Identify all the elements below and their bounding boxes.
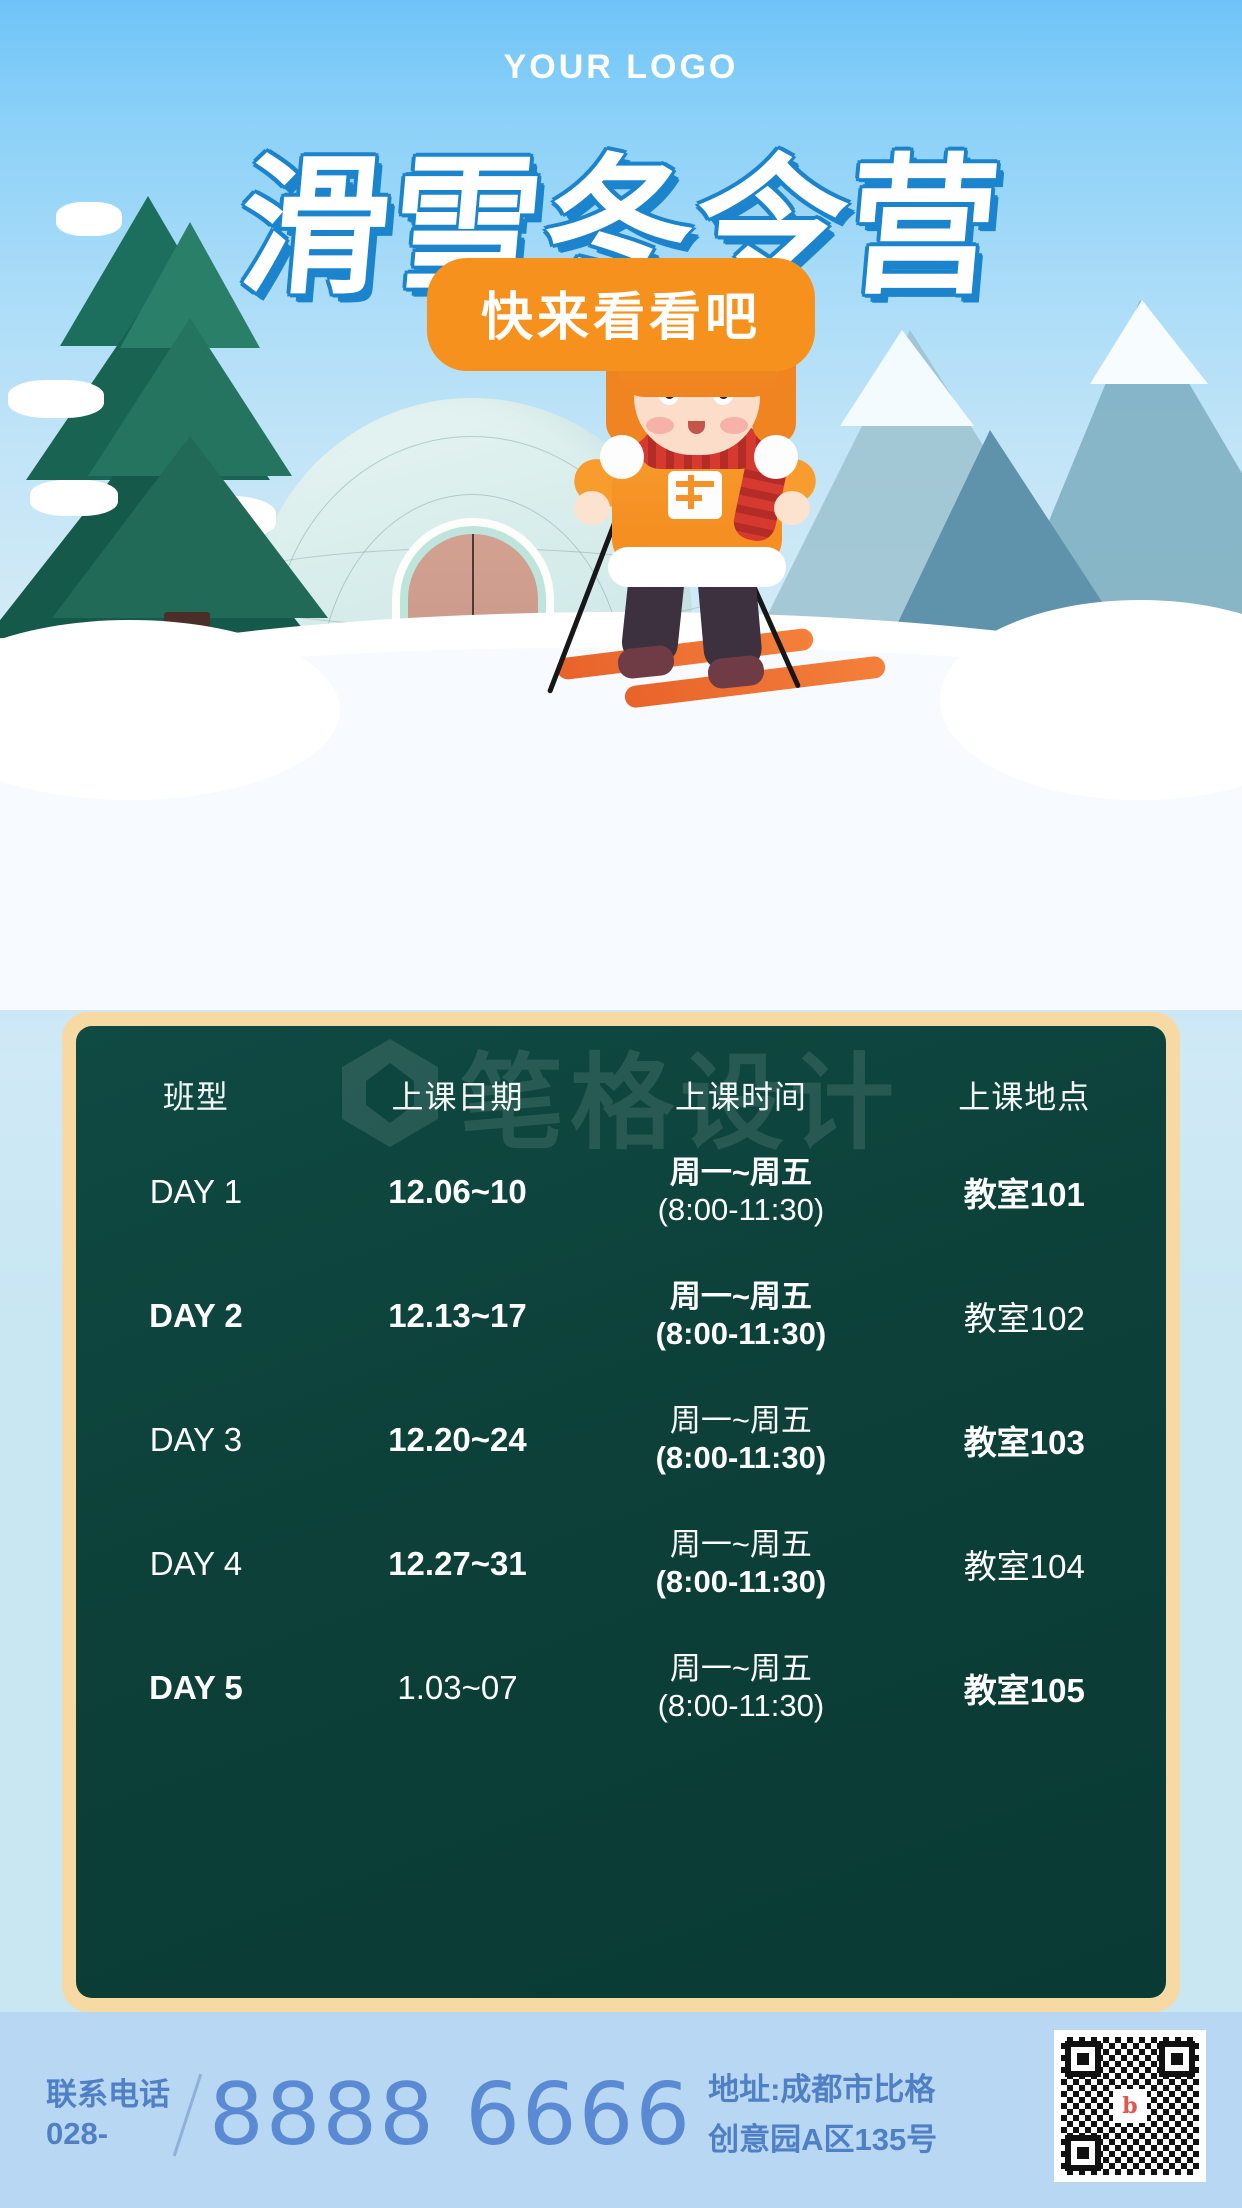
skier-pompom-left xyxy=(600,435,644,479)
cell-time: 周一~周五 (8:00-11:30) xyxy=(599,1254,882,1378)
cell-time: 周一~周五 (8:00-11:30) xyxy=(599,1626,882,1750)
cell-time-days: 周一~周五 xyxy=(599,1527,882,1564)
cell-time-days: 周一~周五 xyxy=(599,1155,882,1192)
cell-day: DAY 5 xyxy=(76,1626,316,1750)
column-header-location: 上课地点 xyxy=(883,1026,1166,1130)
cell-time: 周一~周五 (8:00-11:30) xyxy=(599,1378,882,1502)
cell-time-days: 周一~周五 xyxy=(599,1279,882,1316)
divider-slash xyxy=(173,2074,202,2157)
tree2-snow-1 xyxy=(30,480,118,516)
skier-mouth xyxy=(688,421,705,434)
cell-day: DAY 2 xyxy=(76,1254,316,1378)
skier-boot-left xyxy=(617,644,676,680)
cell-time-hours: (8:00-11:30) xyxy=(599,1192,882,1229)
address-line-1: 地址:成都市比格 xyxy=(708,2065,937,2115)
skier-pompom-right xyxy=(754,435,798,479)
cell-time-days: 周一~周五 xyxy=(599,1651,882,1688)
cell-room: 教室103 xyxy=(883,1378,1166,1502)
table-row: DAY 5 1.03~07 周一~周五 (8:00-11:30) 教室105 xyxy=(76,1626,1166,1750)
qr-code-pattern: b xyxy=(1061,2037,1199,2175)
skier-jacket-hem xyxy=(608,547,786,587)
schedule-table: 班型 上课日期 上课时间 上课地点 DAY 1 12.06~10 周一~周五 (… xyxy=(76,1026,1166,1750)
cell-day: DAY 1 xyxy=(76,1130,316,1254)
qr-finder-top-left xyxy=(1065,2041,1101,2077)
column-header-class-type: 班型 xyxy=(76,1026,316,1130)
poster-root: YOUR LOGO 滑雪冬令营 快来看看吧 笔格设计 班型 上课日期 上课时间 … xyxy=(0,0,1242,2208)
cell-date: 12.06~10 xyxy=(316,1130,599,1254)
phone-number[interactable]: 8888 6666 xyxy=(209,2065,692,2165)
cell-date: 1.03~07 xyxy=(316,1626,599,1750)
cell-time-hours: (8:00-11:30) xyxy=(599,1564,882,1601)
cell-date: 12.27~31 xyxy=(316,1502,599,1626)
qr-finder-top-right xyxy=(1159,2041,1195,2077)
cell-day: DAY 4 xyxy=(76,1502,316,1626)
cell-room: 教室104 xyxy=(883,1502,1166,1626)
skier-chest-badge xyxy=(668,471,722,519)
qr-code[interactable]: b xyxy=(1054,2030,1206,2182)
pine2-layer-3 xyxy=(52,436,328,618)
column-header-date: 上课日期 xyxy=(316,1026,599,1130)
skier-mitten-left xyxy=(574,491,610,525)
address-block: 地址:成都市比格 创意园A区135号 xyxy=(708,2065,937,2164)
brand-logo-text: YOUR LOGO xyxy=(0,48,1242,87)
skier-mitten-right xyxy=(774,491,810,525)
table-header-row: 班型 上课日期 上课时间 上课地点 xyxy=(76,1026,1166,1130)
cell-time-hours: (8:00-11:30) xyxy=(599,1440,882,1477)
contact-label-line2: 028- xyxy=(46,2115,170,2154)
cell-time-hours: (8:00-11:30) xyxy=(599,1688,882,1725)
address-line-2: 创意园A区135号 xyxy=(708,2115,937,2165)
cell-time-days: 周一~周五 xyxy=(599,1403,882,1440)
cta-button[interactable]: 快来看看吧 xyxy=(427,258,815,371)
table-row: DAY 3 12.20~24 周一~周五 (8:00-11:30) 教室103 xyxy=(76,1378,1166,1502)
schedule-card: 笔格设计 班型 上课日期 上课时间 上课地点 DAY 1 12.06~10 周一… xyxy=(76,1026,1166,1998)
footer-bar: 联系电话 028- 8888 6666 地址:成都市比格 创意园A区135号 b xyxy=(0,2012,1242,2208)
table-row: DAY 2 12.13~17 周一~周五 (8:00-11:30) 教室102 xyxy=(76,1254,1166,1378)
qr-center-logo: b xyxy=(1113,2089,1147,2123)
contact-label-line1: 联系电话 xyxy=(46,2076,170,2115)
table-row: DAY 4 12.27~31 周一~周五 (8:00-11:30) 教室104 xyxy=(76,1502,1166,1626)
cell-room: 教室102 xyxy=(883,1254,1166,1378)
cell-day: DAY 3 xyxy=(76,1378,316,1502)
skier-cheek-right xyxy=(720,417,748,434)
cell-time: 周一~周五 (8:00-11:30) xyxy=(599,1130,882,1254)
table-row: DAY 1 12.06~10 周一~周五 (8:00-11:30) 教室101 xyxy=(76,1130,1166,1254)
cell-date: 12.20~24 xyxy=(316,1378,599,1502)
column-header-time: 上课时间 xyxy=(599,1026,882,1130)
cell-time: 周一~周五 (8:00-11:30) xyxy=(599,1502,882,1626)
footer-content: 联系电话 028- 8888 6666 地址:成都市比格 创意园A区135号 xyxy=(46,2040,1196,2190)
cell-date: 12.13~17 xyxy=(316,1254,599,1378)
skier-cheek-left xyxy=(646,417,674,434)
contact-label: 联系电话 028- xyxy=(46,2076,170,2154)
cell-time-hours: (8:00-11:30) xyxy=(599,1316,882,1353)
qr-finder-bottom-left xyxy=(1065,2135,1101,2171)
cell-room: 教室105 xyxy=(883,1626,1166,1750)
cell-room: 教室101 xyxy=(883,1130,1166,1254)
